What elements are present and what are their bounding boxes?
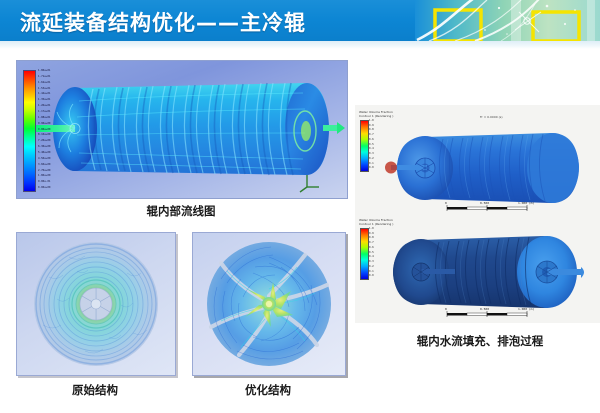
legend-tick: 1.80e+01 bbox=[38, 70, 51, 73]
vof-render-upper: 0 0.500 1.000 (m) bbox=[355, 115, 600, 215]
vof-render-lower: 0 0.500 1.000 (m) bbox=[355, 220, 600, 323]
legend-tick: 9.90e+00 bbox=[38, 123, 51, 126]
legend-tick: 5.40e+00 bbox=[38, 152, 51, 155]
axis-triad-icon bbox=[300, 175, 319, 192]
legend-tick: 6.30e+00 bbox=[38, 146, 51, 149]
svg-text:0: 0 bbox=[445, 201, 447, 205]
legend-tick: 7.20e+00 bbox=[38, 140, 51, 143]
legend-tick: 3.60e+00 bbox=[38, 164, 51, 167]
header-underline bbox=[0, 41, 600, 49]
vof-figure: Water Volume FractionContour 1 (Renderin… bbox=[355, 105, 600, 323]
legend-tick: 1.17e+01 bbox=[38, 111, 51, 114]
legend-tick: 1.26e+01 bbox=[38, 105, 51, 108]
caption-streamline: 辊内部流线图 bbox=[106, 203, 256, 219]
slide-header: 流延装备结构优化——主冷辊 bbox=[0, 0, 600, 41]
svg-text:0.500: 0.500 bbox=[480, 201, 489, 205]
legend-tick: 9.00e+00 bbox=[38, 129, 51, 132]
legend-tick: 1.62e+01 bbox=[38, 82, 51, 85]
legend-tick-labels: 1.80e+01 1.71e+01 1.62e+01 1.53e+01 1.44… bbox=[38, 70, 51, 190]
streamline-figure: 1.80e+01 1.71e+01 1.62e+01 1.53e+01 1.44… bbox=[16, 60, 348, 199]
page-title: 流延装备结构优化——主冷辊 bbox=[20, 7, 306, 37]
original-structure-figure bbox=[16, 232, 176, 376]
legend-colorbar bbox=[23, 70, 36, 192]
caption-original: 原始结构 bbox=[30, 382, 160, 398]
svg-text:1.000 (m): 1.000 (m) bbox=[518, 201, 534, 205]
legend-tick: 1.53e+01 bbox=[38, 88, 51, 91]
legend-tick: 0.00e+00 bbox=[38, 187, 51, 190]
svg-text:0.500: 0.500 bbox=[480, 307, 489, 311]
legend-tick: 1.80e+00 bbox=[38, 175, 51, 178]
legend-tick: 9.00e-01 bbox=[38, 181, 51, 184]
legend-tick: 2.70e+00 bbox=[38, 170, 51, 173]
legend-tick: 1.71e+01 bbox=[38, 76, 51, 79]
legend-tick: 1.08e+01 bbox=[38, 117, 51, 120]
legend-tick: 1.44e+01 bbox=[38, 93, 51, 96]
legend-tick: 1.35e+01 bbox=[38, 99, 51, 102]
caption-optimized: 优化结构 bbox=[206, 382, 330, 398]
svg-text:1.000 (m): 1.000 (m) bbox=[518, 307, 534, 311]
legend-tick: 4.50e+00 bbox=[38, 158, 51, 161]
velocity-legend: 1.80e+01 1.71e+01 1.62e+01 1.53e+01 1.44… bbox=[23, 70, 51, 190]
legend-tick: 8.10e+00 bbox=[38, 134, 51, 137]
caption-vof: 辊内水流填充、排泡过程 bbox=[390, 333, 570, 349]
optimized-structure-figure bbox=[192, 232, 346, 376]
scalebar-lower: 0 0.500 1.000 (m) bbox=[445, 307, 534, 317]
scalebar-upper: 0 0.500 1.000 (m) bbox=[445, 201, 534, 211]
svg-text:0: 0 bbox=[445, 307, 447, 311]
header-decoration bbox=[415, 0, 600, 41]
